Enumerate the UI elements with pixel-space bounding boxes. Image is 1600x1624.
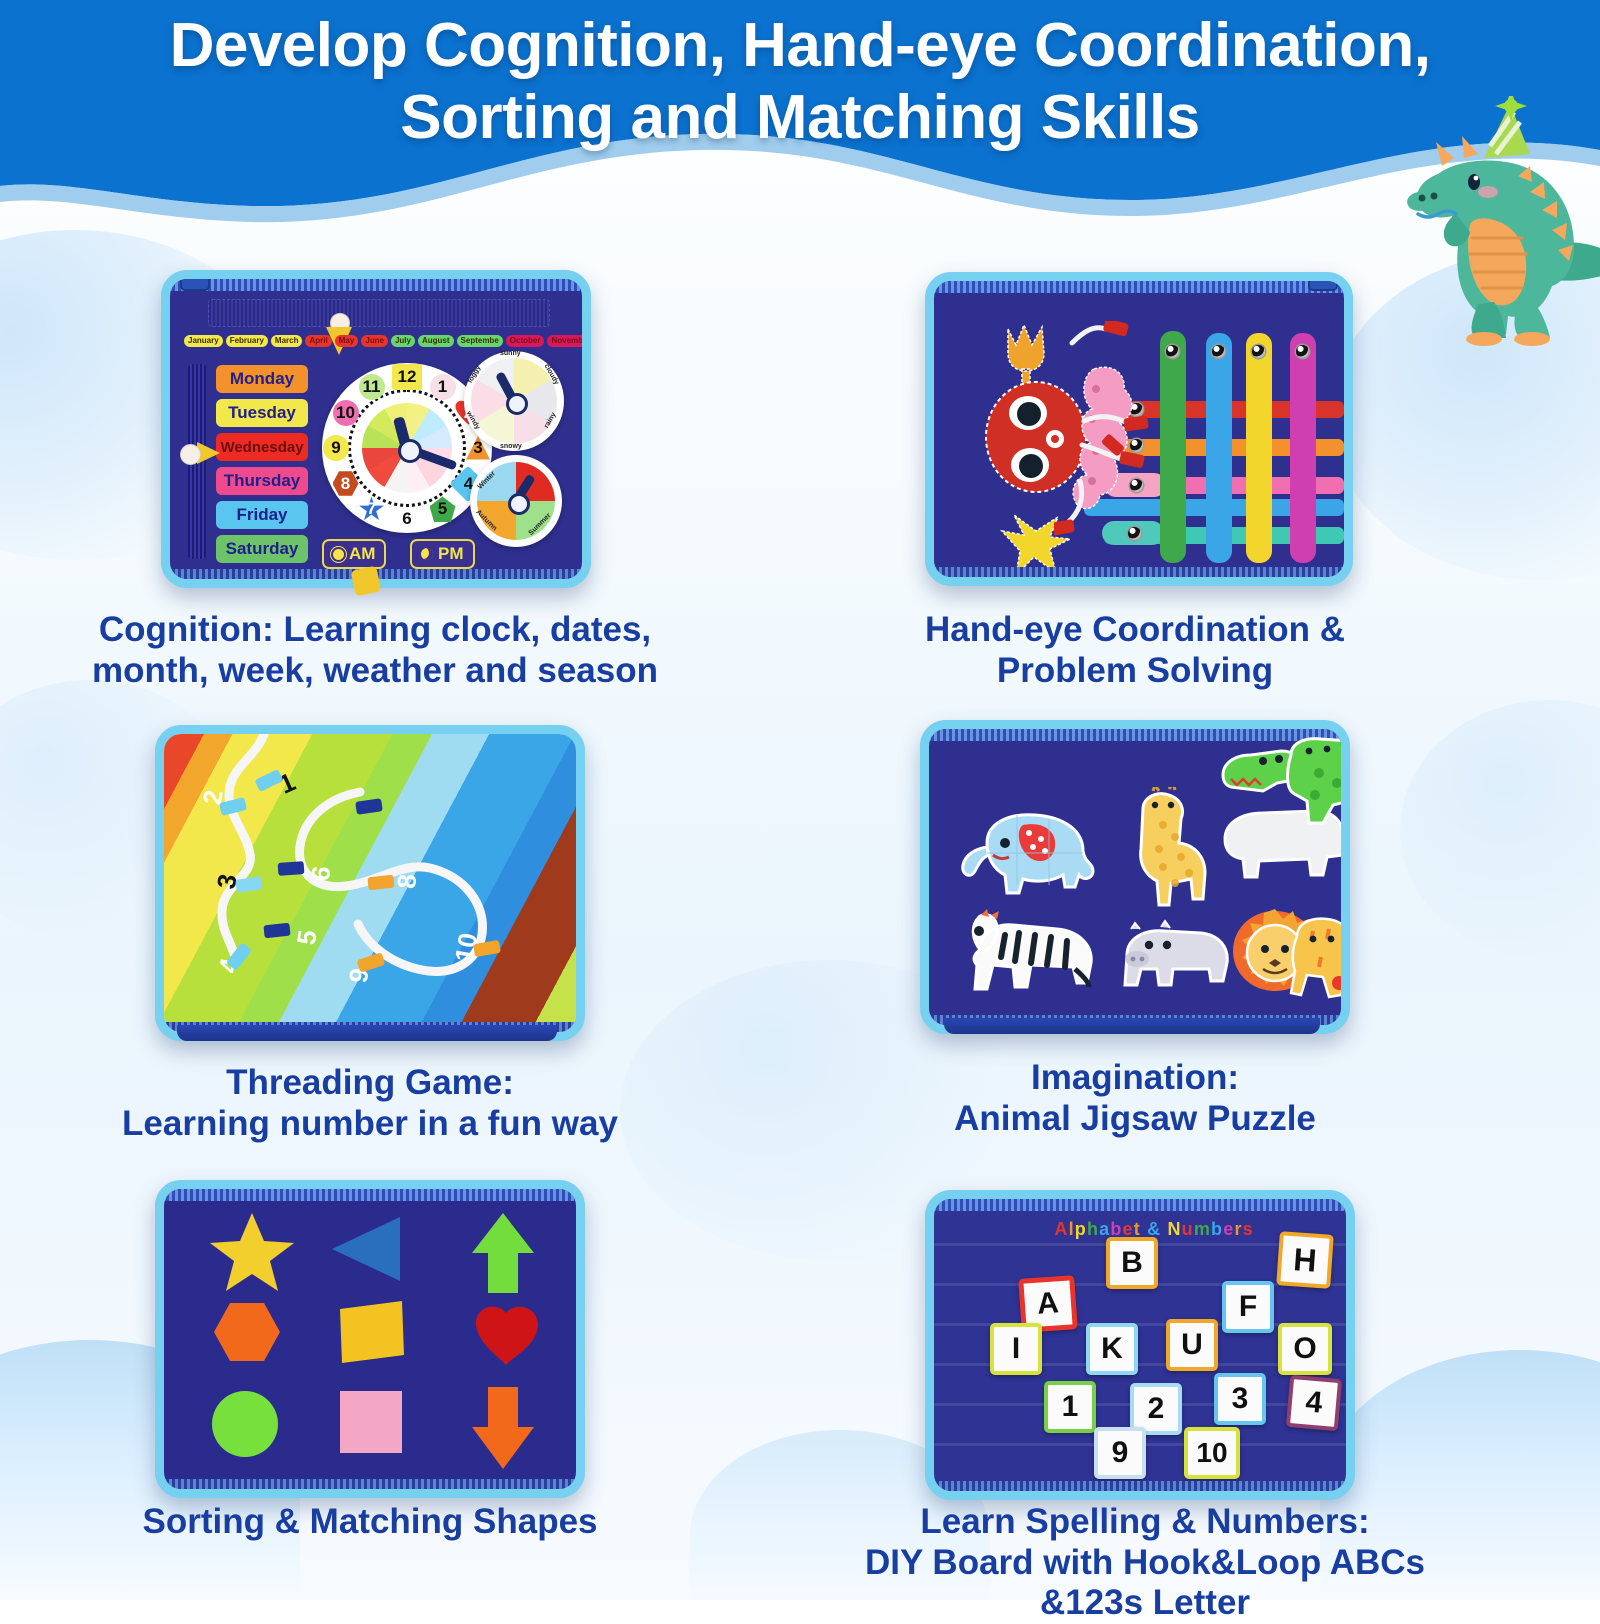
zebra-puzzle-piece[interactable] — [957, 909, 1103, 1005]
shape-square-pink[interactable] — [338, 1389, 404, 1455]
panel-caption-imagination: Imagination: Animal Jigsaw Puzzle — [890, 1058, 1380, 1139]
title-letter: t — [1133, 1219, 1140, 1239]
panel-threading: 1 2 3 4 5 6 8 9 10 Threading Game: Learn… — [155, 725, 595, 1145]
crocodile-puzzle-piece[interactable] — [1275, 735, 1350, 831]
clock-number: 8 — [332, 470, 360, 498]
panel-hand-eye: Hand-eye Coordination & Problem Solving — [925, 272, 1365, 692]
weekday-chip[interactable]: Friday — [216, 501, 308, 529]
panel-caption-alphabet: Learn Spelling & Numbers: DIY Board with… — [835, 1502, 1455, 1624]
number-tile-4[interactable]: 4 — [1286, 1375, 1342, 1431]
weather-wheel[interactable]: sunny cloudy rainy snowy windy foggy — [464, 351, 564, 451]
threading-bead[interactable] — [278, 861, 305, 876]
month-chip[interactable]: February — [226, 335, 268, 347]
letter-tile-I[interactable]: I — [990, 1323, 1042, 1375]
vertical-strap-yellow[interactable] — [1246, 333, 1272, 563]
panel-caption-cognition: Cognition: Learning clock, dates, month,… — [80, 610, 670, 691]
dinosaur-mascot-icon — [1378, 96, 1600, 346]
month-chip[interactable]: June — [361, 335, 388, 347]
weekday-column[interactable]: MondayTuesdayWednesdayThursdayFridaySatu… — [216, 365, 308, 588]
cognition-board[interactable]: JanuaryFebruaryMarchAprilMayJuneJulyAugu… — [161, 270, 591, 588]
strap-eyelet[interactable] — [1296, 345, 1309, 358]
panel-cognition: JanuaryFebruaryMarchAprilMayJuneJulyAugu… — [155, 270, 595, 690]
header-banner: Develop Cognition, Hand-eye Coordination… — [0, 0, 1600, 225]
title-letter: u — [1181, 1219, 1193, 1239]
panel-imagination: Imagination: Animal Jigsaw Puzzle — [920, 720, 1360, 1140]
weekday-chip[interactable]: Wednesday — [216, 433, 308, 461]
tiger-puzzle-piece[interactable] — [1283, 915, 1350, 1009]
month-chip[interactable]: August — [418, 335, 454, 347]
panel-caption-shapes: Sorting & Matching Shapes — [115, 1502, 625, 1543]
panel-caption-hand-eye: Hand-eye Coordination & Problem Solving — [890, 610, 1380, 691]
shape-triangle[interactable] — [330, 1215, 402, 1283]
zipper-bottom[interactable] — [930, 1481, 1350, 1495]
month-strip[interactable]: JanuaryFebruaryMarchAprilMayJuneJulyAugu… — [184, 335, 591, 347]
month-chip[interactable]: April — [305, 335, 331, 347]
title-letter: a — [1099, 1219, 1110, 1239]
imagination-board[interactable] — [920, 720, 1350, 1034]
hippo-puzzle-piece[interactable] — [1115, 919, 1233, 999]
panel-alphabet: Alphabet & Numbers B H A F I K U O 1 2 3… — [925, 1190, 1365, 1590]
clock-number: 7 — [358, 495, 386, 523]
letter-tile-U[interactable]: U — [1166, 1319, 1218, 1371]
weekday-marker-button[interactable] — [180, 444, 201, 465]
board-spine-bottom — [944, 1018, 1320, 1034]
elephant-puzzle-piece[interactable] — [957, 807, 1097, 907]
caption-line2: month, week, weather and season — [80, 651, 670, 692]
threading-bead[interactable] — [367, 875, 394, 891]
month-chip[interactable]: January — [184, 335, 223, 347]
threading-number: 8 — [391, 873, 423, 890]
weekday-chip[interactable]: Thursday — [216, 467, 308, 495]
caption-line2: Learning number in a fun way — [85, 1104, 655, 1145]
title-letter: & — [1147, 1219, 1161, 1239]
title-letter: b — [1211, 1219, 1223, 1239]
clock-number: 9 — [322, 434, 350, 462]
zipper-top[interactable] — [166, 275, 586, 291]
title-letter: e — [1223, 1219, 1234, 1239]
weekday-chip[interactable]: Tuesday — [216, 399, 308, 427]
caption-line2: Animal Jigsaw Puzzle — [890, 1099, 1380, 1140]
cloud-blob — [1400, 700, 1600, 960]
zipper-bottom[interactable] — [160, 1479, 580, 1493]
number-tile-1[interactable]: 1 — [1044, 1381, 1096, 1433]
month-chip[interactable]: May — [335, 335, 359, 347]
letter-tile-H[interactable]: H — [1276, 1231, 1334, 1289]
title-letter: s — [1242, 1219, 1253, 1239]
weather-label: sunny — [500, 350, 521, 357]
month-chip[interactable]: October — [506, 335, 545, 347]
threading-board[interactable]: 1 2 3 4 5 6 8 9 10 — [155, 725, 585, 1041]
caption-line2: Problem Solving — [890, 651, 1380, 692]
title-letter: h — [1087, 1219, 1099, 1239]
title-letter: r — [1234, 1219, 1242, 1239]
title-letter: A — [1054, 1219, 1068, 1239]
sun-icon — [333, 549, 344, 560]
strap-eyelet[interactable] — [1252, 345, 1265, 358]
title-letter: e — [1122, 1219, 1133, 1239]
vertical-strap-purple[interactable] — [1290, 333, 1316, 563]
month-chip[interactable]: July — [391, 335, 415, 347]
shape-hexagon[interactable] — [212, 1301, 282, 1363]
board-spine-bottom — [177, 1025, 557, 1041]
strap-eyelet[interactable] — [1212, 345, 1225, 358]
board-bottom-tab[interactable] — [351, 566, 382, 597]
caption-line1: Hand-eye Coordination & — [890, 610, 1380, 651]
clock-number: 6 — [393, 505, 421, 533]
clock-number: 5 — [429, 495, 457, 523]
moon-icon — [421, 548, 433, 560]
month-chip[interactable]: November — [547, 335, 591, 347]
letter-tile-F[interactable]: F — [1222, 1281, 1274, 1333]
page-title-line1: Develop Cognition, Hand-eye Coordination… — [0, 10, 1600, 82]
clock-number: 12 — [393, 363, 421, 391]
board-pocket-flap — [208, 299, 550, 327]
season-wheel-pin[interactable] — [508, 493, 530, 515]
shape-circle[interactable] — [210, 1389, 280, 1459]
caption-line2: DIY Board with Hook&Loop ABCs &123s Lett… — [835, 1543, 1455, 1624]
alphabet-board[interactable]: Alphabet & Numbers B H A F I K U O 1 2 3… — [925, 1190, 1355, 1500]
number-tile-9[interactable]: 9 — [1094, 1427, 1146, 1479]
am-label: AM — [349, 544, 375, 564]
weekday-chip[interactable]: Saturday — [216, 535, 308, 563]
title-letter: N — [1167, 1219, 1181, 1239]
number-tile-3[interactable]: 3 — [1214, 1373, 1266, 1425]
zipper-top[interactable] — [160, 1185, 580, 1201]
threading-bead[interactable] — [263, 923, 290, 939]
lacing-cords[interactable] — [1054, 321, 1184, 551]
vertical-strap-blue[interactable] — [1206, 333, 1232, 563]
page-title-line2: Sorting and Matching Skills — [0, 82, 1600, 154]
caption-line1: Threading Game: — [85, 1063, 655, 1104]
letter-tile-O[interactable]: O — [1278, 1323, 1332, 1375]
month-chip[interactable]: March — [271, 335, 303, 347]
zipper-top[interactable] — [930, 1195, 1350, 1211]
number-tile-10[interactable]: 10 — [1184, 1427, 1240, 1479]
letter-tile-K[interactable]: K — [1086, 1323, 1138, 1375]
am-button[interactable]: AM — [322, 539, 386, 569]
clock-number: 10 — [332, 399, 360, 427]
pm-label: PM — [438, 544, 464, 564]
zipper-bottom[interactable] — [930, 567, 1348, 581]
weekday-chip[interactable]: Monday — [216, 365, 308, 393]
shape-square-gold[interactable] — [338, 1299, 406, 1365]
weather-label: snowy — [500, 443, 522, 450]
caption-line1: Imagination: — [890, 1058, 1380, 1099]
caption-line1: Learn Spelling & Numbers: — [835, 1502, 1455, 1543]
shape-star[interactable] — [208, 1211, 296, 1295]
title-letter: m — [1193, 1219, 1210, 1239]
panel-caption-threading: Threading Game: Learning number in a fun… — [85, 1063, 655, 1144]
hand-eye-board[interactable] — [925, 272, 1353, 586]
panel-shapes: Sorting & Matching Shapes — [155, 1180, 595, 1580]
caption-line1: Cognition: Learning clock, dates, — [80, 610, 670, 651]
clock-center-pin[interactable] — [398, 439, 422, 463]
title-letter: p — [1074, 1219, 1086, 1239]
letter-tile-B[interactable]: B — [1106, 1237, 1158, 1289]
season-wheel[interactable]: Winter Autumn Summer — [470, 455, 562, 547]
zipper-pull[interactable] — [180, 270, 210, 291]
month-chip[interactable]: Septembe — [457, 335, 503, 347]
shape-arrow-up[interactable] — [470, 1211, 536, 1295]
shapes-board[interactable] — [155, 1180, 585, 1498]
clock-number: 11 — [358, 373, 386, 401]
title-letter: b — [1110, 1219, 1122, 1239]
shape-arrow-down[interactable] — [470, 1385, 536, 1471]
giraffe-puzzle-piece[interactable] — [1119, 787, 1215, 915]
pm-button[interactable]: PM — [410, 539, 475, 569]
zipper-pull[interactable] — [1308, 272, 1338, 291]
shape-heart[interactable] — [472, 1301, 544, 1367]
page-title: Develop Cognition, Hand-eye Coordination… — [0, 10, 1600, 154]
clock-number: 1 — [429, 373, 457, 401]
title-letter — [1141, 1219, 1147, 1239]
weather-wheel-pin[interactable] — [506, 393, 528, 415]
zipper-top[interactable] — [930, 277, 1348, 293]
caption-line1: Sorting & Matching Shapes — [115, 1502, 625, 1543]
